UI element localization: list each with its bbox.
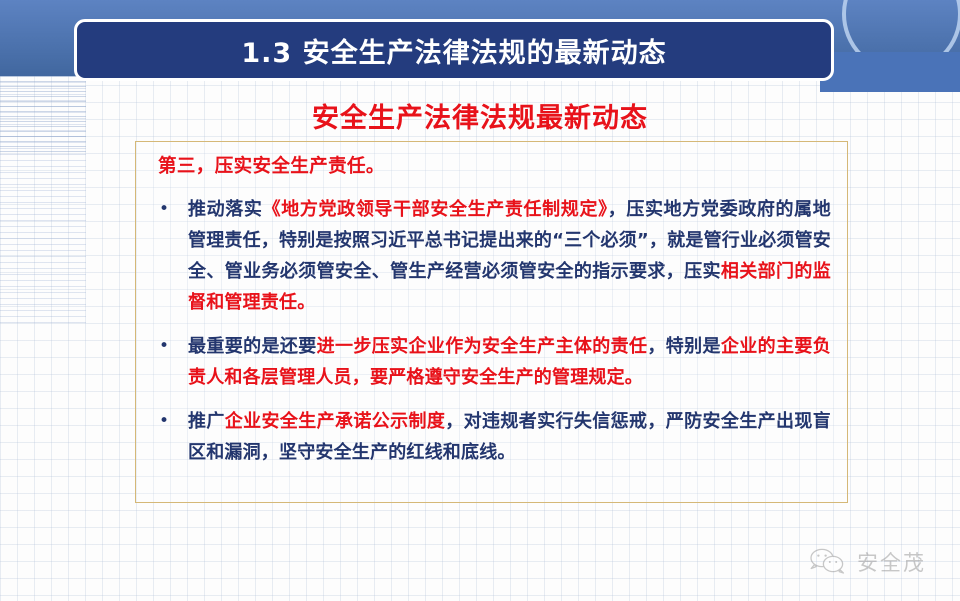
wechat-icon [808,547,848,577]
decorative-arc-mask [820,52,960,92]
bullet-marker-icon: • [152,406,188,437]
content-lead-heading: 第三，压实安全生产责任。 [158,153,831,181]
slide-title-bar: 1.3 安全生产法律法规的最新动态 [74,19,834,81]
page-title: 1.3 安全生产法律法规的最新动态 [241,31,666,70]
list-item: • 最重要的是还要进一步压实企业作为安全生产主体的责任，特别是企业的主要负责人和… [152,331,831,393]
text-run-blue: 推广 [188,411,225,432]
text-run-red: 进一步压实企业作为安全生产主体的责任 [317,336,648,357]
bullet-text: 推广企业安全生产承诺公示制度，对违规者实行失信惩戒，严防安全生产出现盲区和漏洞，… [188,406,831,468]
text-run-red: 企业安全生产承诺公示制度 [225,411,446,432]
list-item: • 推动落实《地方党政领导干部安全生产责任制规定》，压实地方党委政府的属地管理责… [152,194,831,318]
footer-brand: 安全茂 [808,547,926,577]
text-run-red: 《地方党政领导干部安全生产责任制规定》 [263,199,608,220]
bullet-marker-icon: • [152,331,188,362]
bullet-text: 最重要的是还要进一步压实企业作为安全生产主体的责任，特别是企业的主要负责人和各层… [188,331,831,393]
bullet-marker-icon: • [152,194,188,225]
bullet-text: 推动落实《地方党政领导干部安全生产责任制规定》，压实地方党委政府的属地管理责任，… [188,194,831,318]
content-box: 第三，压实安全生产责任。 • 推动落实《地方党政领导干部安全生产责任制规定》，压… [135,141,848,503]
footer-brand-label: 安全茂 [857,547,926,577]
slide-subtitle: 安全生产法律法规最新动态 [0,96,960,135]
text-run-blue: 推动落实 [188,199,263,220]
text-run-blue: ，特别是 [647,336,721,357]
text-run-blue: 最重要的是还要 [188,336,317,357]
list-item: • 推广企业安全生产承诺公示制度，对违规者实行失信惩戒，严防安全生产出现盲区和漏… [152,406,831,468]
slide-root: 1.3 安全生产法律法规的最新动态 安全生产法律法规最新动态 第三，压实安全生产… [0,0,960,601]
